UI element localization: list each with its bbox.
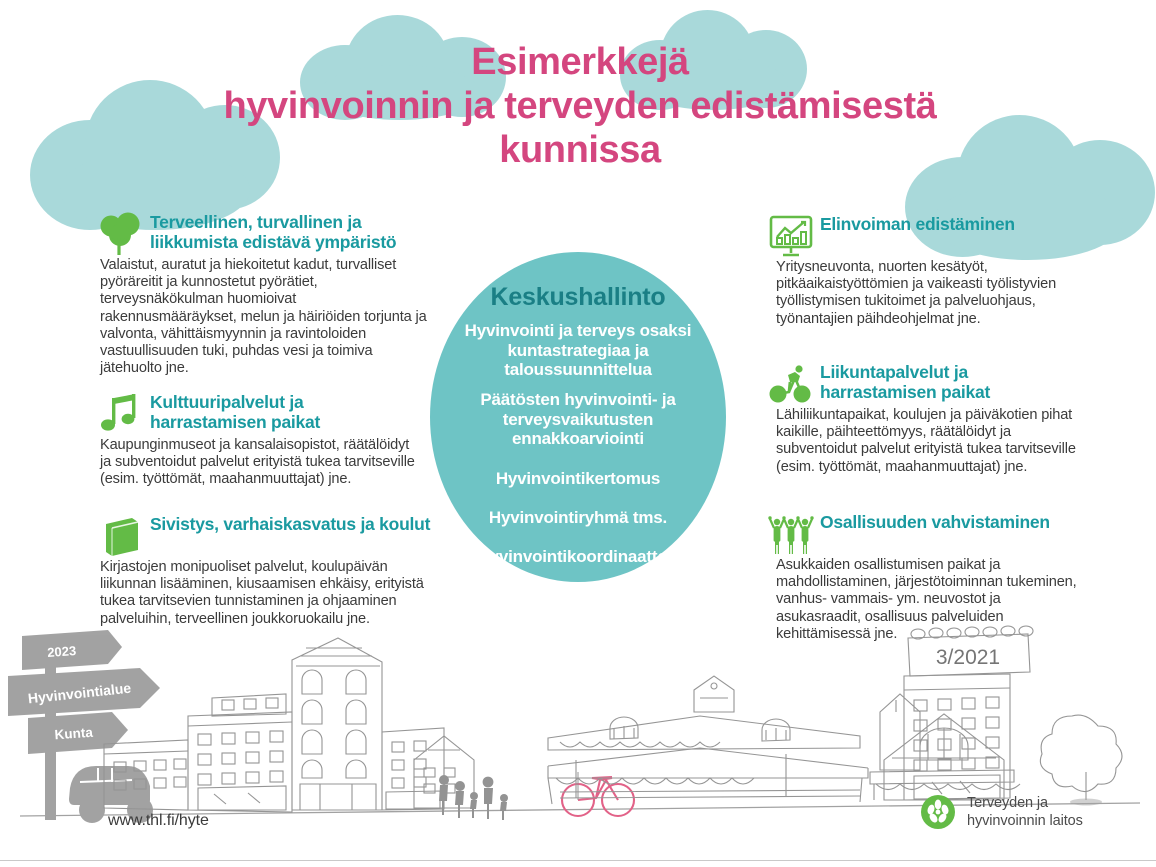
topic-body: Asukkaiden osallistumisen paikat ja mahd… <box>776 557 1088 643</box>
topic-heading: Osallisuuden vahvistaminen <box>820 512 1050 533</box>
cyclist-icon <box>768 362 814 406</box>
website-url[interactable]: www.thl.fi/hyte <box>108 812 209 830</box>
topic-body: Kaupunginmuseot ja kansalaisopistot, rää… <box>100 437 416 489</box>
logo-line-1: Terveyden ja <box>967 794 1083 812</box>
monitor-chart-icon <box>768 214 814 258</box>
infographic-canvas: Esimerkkejä hyvinvoinnin ja terveyden ed… <box>0 0 1156 867</box>
page-title: Esimerkkejä hyvinvoinnin ja terveyden ed… <box>150 40 1010 172</box>
music-note-icon <box>98 392 144 436</box>
bottom-divider <box>0 860 1156 861</box>
topic-heading: Terveellinen, turvallinen ja liikkumista… <box>150 212 428 252</box>
circle-item-1: Hyvinvointi ja terveys osaksi kuntastrat… <box>430 321 726 379</box>
banner-date-label: 3/2021 <box>936 646 1000 669</box>
title-line-3: kunnissa <box>150 128 1010 172</box>
topic-culture-services: Kulttuuripalvelut ja harrastamisen paika… <box>98 392 416 489</box>
book-icon <box>98 514 144 558</box>
topic-heading: Sivistys, varhaiskasvatus ja koulut <box>150 514 430 535</box>
topic-body: Lähiliikuntapaikat, koulujen ja päiväkot… <box>776 407 1086 476</box>
topic-heading: Liikuntapalvelut ja harrastamisen paikat <box>820 362 1086 402</box>
signpost-label-municipality: Kunta <box>54 725 94 743</box>
signpost-label-year: 2023 <box>47 643 77 660</box>
topic-heading: Elinvoiman edistäminen <box>820 214 1015 235</box>
tree-icon <box>98 212 144 256</box>
circle-heading: Keskushallinto <box>430 252 726 310</box>
topic-body: Valaistut, auratut ja hiekoitetut kadut,… <box>100 257 428 378</box>
topic-education-schools: Sivistys, varhaiskasvatus ja koulut Kirj… <box>98 514 434 628</box>
topic-heading: Kulttuuripalvelut ja harrastamisen paika… <box>150 392 416 432</box>
topic-sports-services: Liikuntapalvelut ja harrastamisen paikat… <box>768 362 1086 476</box>
circle-item-4: Hyvinvointiryhmä tms. <box>430 508 726 527</box>
topic-participation-strengthening: Osallisuuden vahvistaminen Asukkaiden os… <box>768 512 1088 643</box>
three-people-icon <box>768 512 814 556</box>
thl-flower-icon <box>921 795 955 829</box>
circle-item-2: Päätösten hyvinvointi- ja terveysvaikutu… <box>430 390 726 448</box>
thl-logo: Terveyden ja hyvinvoinnin laitos <box>921 794 1083 830</box>
topic-body: Yritysneuvonta, nuorten kesätyöt, pitkäa… <box>776 259 1088 328</box>
title-line-1: Esimerkkejä <box>150 40 1010 84</box>
title-line-2: hyvinvoinnin ja terveyden edistämisestä <box>150 84 1010 128</box>
logo-line-2: hyvinvoinnin laitos <box>967 812 1083 830</box>
circle-item-5: Hyvinvointikoordinaattori <box>430 547 726 566</box>
topic-body: Kirjastojen monipuoliset palvelut, koulu… <box>100 559 434 628</box>
topic-vitality-promotion: Elinvoiman edistäminen Yritysneuvonta, n… <box>768 214 1088 328</box>
topic-healthy-environment: Terveellinen, turvallinen ja liikkumista… <box>98 212 428 378</box>
circle-item-3: Hyvinvointikertomus <box>430 469 726 488</box>
tree <box>1040 715 1122 800</box>
central-administration-circle: Keskushallinto Hyvinvointi ja terveys os… <box>430 252 726 582</box>
